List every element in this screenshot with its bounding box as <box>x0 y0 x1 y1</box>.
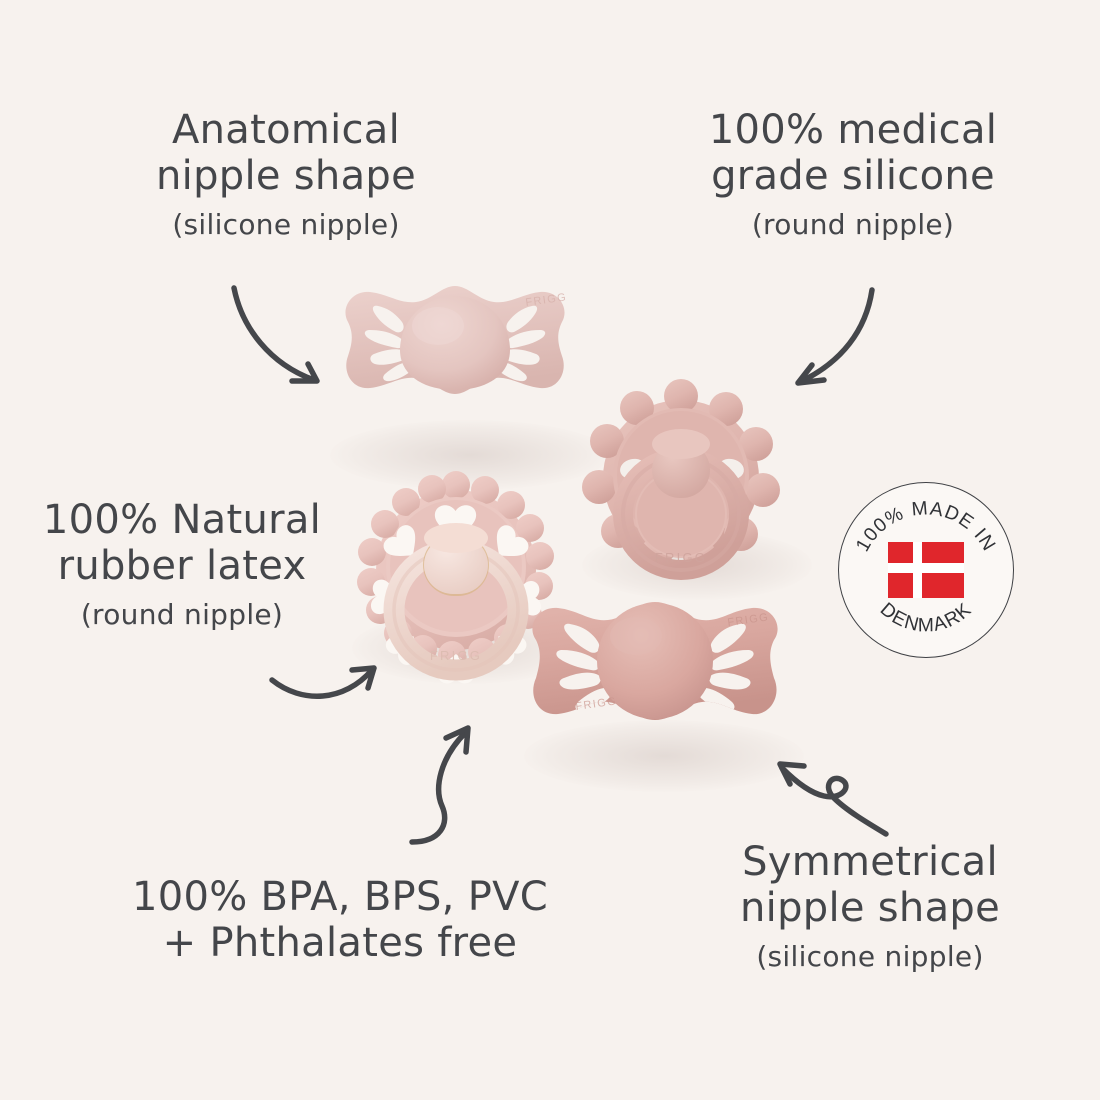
brand-emboss: FRIGG <box>655 550 707 565</box>
arrow-to-daisy-pacifier <box>780 286 890 396</box>
pacifier-symmetrical-butterfly: FRIGG FRIGG <box>520 592 790 782</box>
label-line-1: 100% BPA, BPS, PVC <box>60 875 620 921</box>
label-symmetrical-nipple-shape: Symmetrical nipple shape (silicone nippl… <box>690 840 1050 973</box>
label-line-2: rubber latex <box>12 544 352 590</box>
label-line-2: nipple shape <box>690 886 1050 932</box>
label-anatomical-nipple-shape: Anatomical nipple shape (silicone nipple… <box>106 108 466 241</box>
label-sublabel: (silicone nipple) <box>106 209 466 241</box>
label-line-2: grade silicone <box>668 154 1038 200</box>
pacifier-daisy-round-silicone: FRIGG <box>576 382 790 594</box>
label-sublabel: (round nipple) <box>668 209 1038 241</box>
label-line-2: + Phthalates free <box>60 921 620 967</box>
label-line-1: Anatomical <box>106 108 466 154</box>
label-line-1: 100% Natural <box>12 498 352 544</box>
pacifier-nipple-latex <box>423 523 489 596</box>
brand-emboss: FRIGG <box>430 648 482 663</box>
pacifier-knob <box>652 429 710 498</box>
arrow-to-anatomical-pacifier <box>230 280 340 400</box>
denmark-flag-icon <box>888 542 964 598</box>
made-in-denmark-badge: 100% MADE IN DENMARK <box>838 482 1014 658</box>
label-bpa-bps-pvc-free: 100% BPA, BPS, PVC + Phthalates free <box>60 875 620 966</box>
label-sublabel: (round nipple) <box>12 599 352 631</box>
arrow-to-symmetrical-pacifier <box>772 738 892 838</box>
label-medical-grade-silicone: 100% medical grade silicone (round nippl… <box>668 108 1038 241</box>
label-line-1: Symmetrical <box>690 840 1050 886</box>
label-natural-rubber-latex: 100% Natural rubber latex (round nipple) <box>12 498 352 631</box>
arrow-to-center-products <box>408 718 498 848</box>
label-line-1: 100% medical <box>668 108 1038 154</box>
label-sublabel: (silicone nipple) <box>690 941 1050 973</box>
pacifier-anatomical-butterfly: FRIGG <box>330 278 580 453</box>
infographic-canvas: FRIGG <box>0 0 1100 1100</box>
badge-bottom-text: DENMARK <box>876 599 976 636</box>
label-line-2: nipple shape <box>106 154 466 200</box>
